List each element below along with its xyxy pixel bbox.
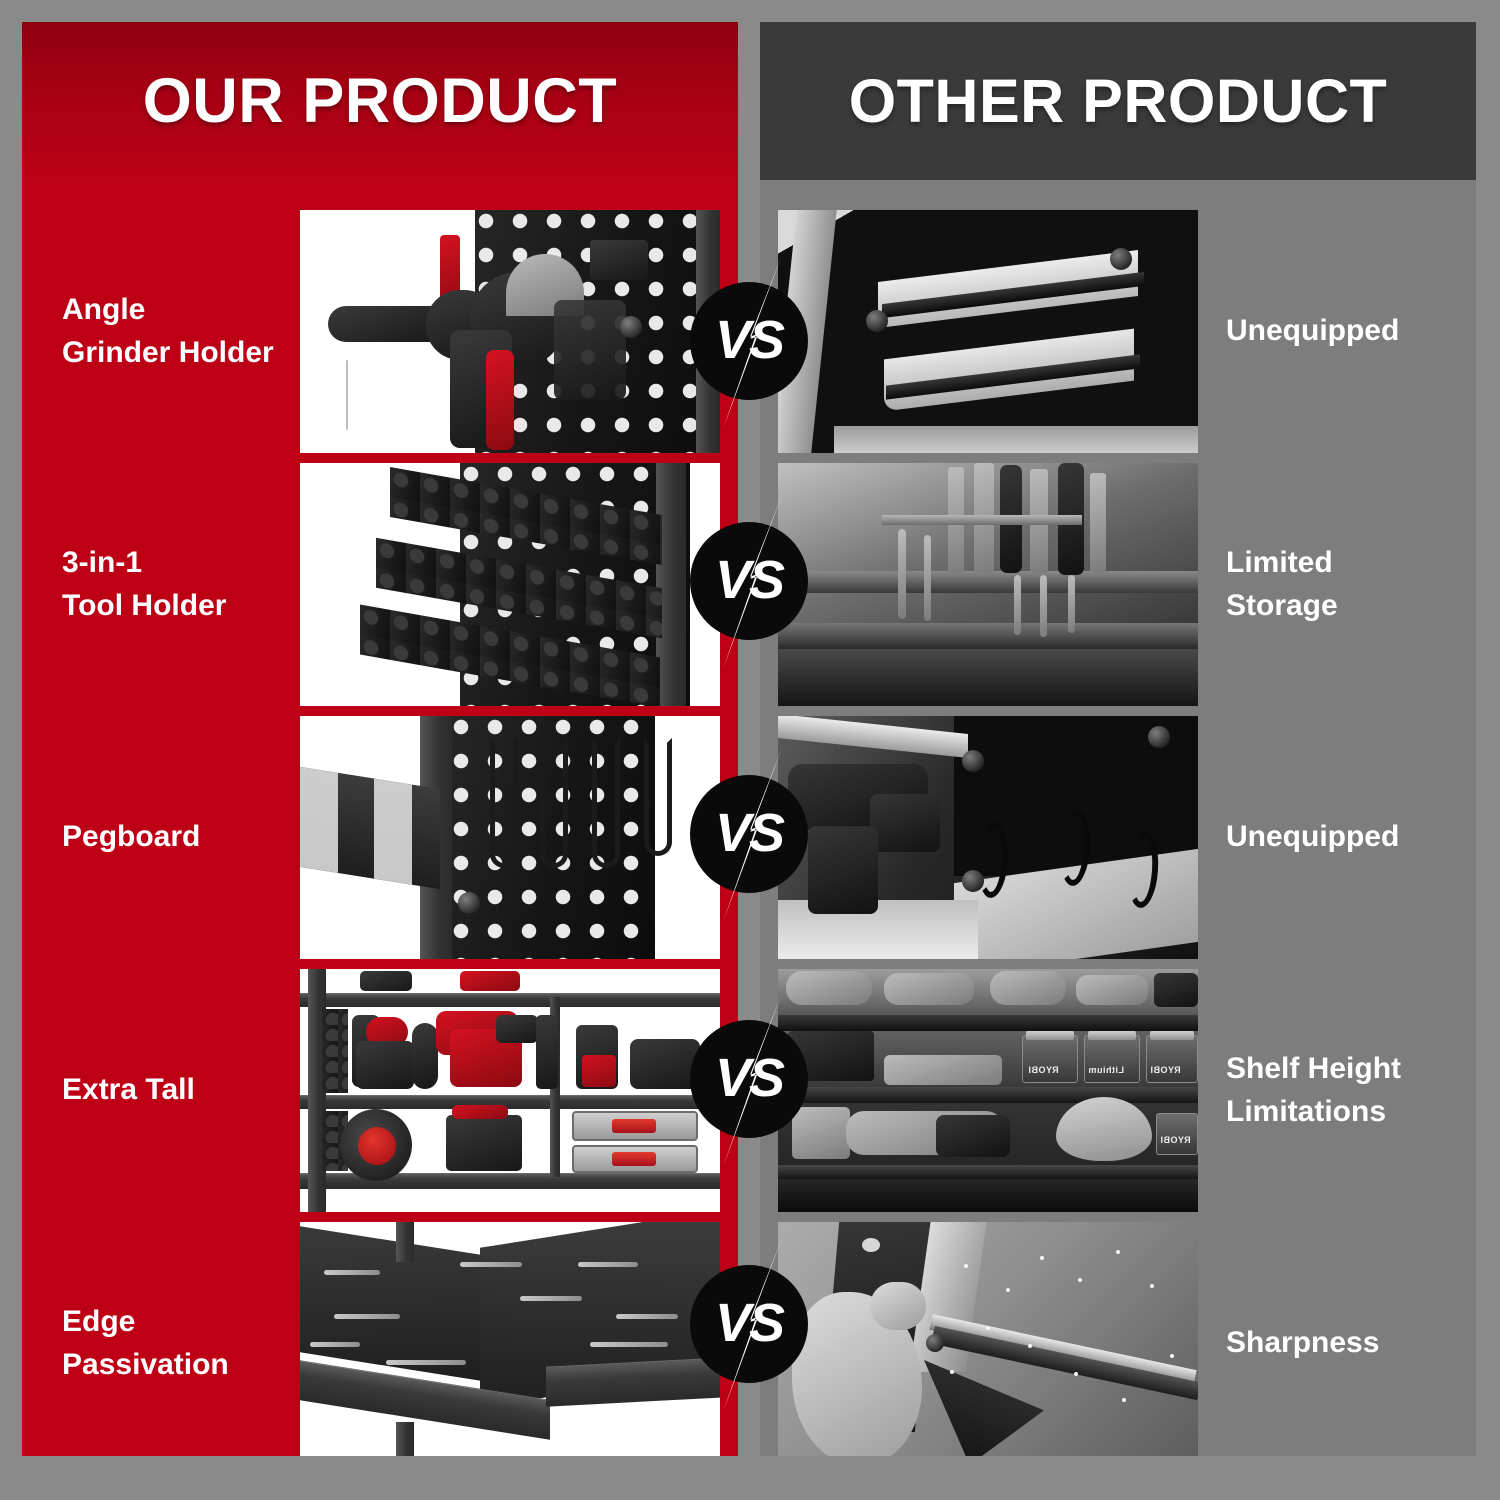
row-unequipped-2: Unequipped	[760, 716, 1476, 959]
vs-badge-row-1[interactable]: VS	[690, 282, 808, 400]
comparison-infographic: OUR PRODUCT Angle Grinder Holder	[0, 0, 1500, 1500]
row-pegboard: Pegboard	[22, 716, 738, 959]
label-angle-grinder-holder: Angle Grinder Holder	[22, 289, 300, 374]
label-extra-tall: Extra Tall	[22, 1069, 300, 1112]
image-unequipped-2	[778, 716, 1198, 959]
battery-label-2: Lithium	[1088, 1065, 1124, 1075]
other-product-panel: OTHER PRODUCT Unequipped	[760, 22, 1476, 1456]
vs-badge-row-5[interactable]: VS	[690, 1265, 808, 1383]
vs-label-2: VS	[690, 522, 808, 640]
row-extra-tall: Extra Tall	[22, 969, 738, 1212]
image-angle-grinder-holder	[300, 210, 720, 453]
label-edge-passivation: Edge Passivation	[22, 1301, 300, 1386]
other-product-title: OTHER PRODUCT	[849, 71, 1388, 132]
our-product-panel: OUR PRODUCT Angle Grinder Holder	[22, 22, 738, 1456]
row-unequipped-1: Unequipped	[760, 210, 1476, 453]
image-limited-storage	[778, 463, 1198, 706]
image-extra-tall	[300, 969, 720, 1212]
vs-label-4: VS	[690, 1020, 808, 1138]
other-product-rows: Unequipped Limited Stor	[760, 200, 1476, 1456]
row-angle-grinder-holder: Angle Grinder Holder	[22, 210, 738, 453]
vs-label-3: VS	[690, 775, 808, 893]
vs-label-1: VS	[690, 282, 808, 400]
label-tool-holder: 3-in-1 Tool Holder	[22, 542, 300, 627]
our-product-header: OUR PRODUCT	[22, 22, 738, 180]
other-product-header: OTHER PRODUCT	[760, 22, 1476, 180]
battery-label-4: RYOBI	[1160, 1135, 1191, 1145]
image-pegboard	[300, 716, 720, 959]
label-unequipped-1: Unequipped	[1198, 310, 1476, 353]
row-shelf-height-limitations: Shelf Height Limitations RYOBI	[760, 969, 1476, 1212]
row-tool-holder: 3-in-1 Tool Holder	[22, 463, 738, 706]
label-unequipped-2: Unequipped	[1198, 816, 1476, 859]
our-product-rows: Angle Grinder Holder	[22, 200, 738, 1456]
label-pegboard: Pegboard	[22, 816, 300, 859]
vs-label-5: VS	[690, 1265, 808, 1383]
battery-label-1: RYOBI	[1028, 1065, 1059, 1075]
image-tool-holder	[300, 463, 720, 706]
row-edge-passivation: Edge Passivation	[22, 1222, 738, 1456]
label-sharpness: Sharpness	[1198, 1322, 1476, 1365]
row-sharpness: Sharpness	[760, 1222, 1476, 1456]
our-product-title: OUR PRODUCT	[143, 70, 618, 133]
label-limited-storage: Limited Storage	[1198, 542, 1476, 627]
image-unequipped-1	[778, 210, 1198, 453]
image-sharpness	[778, 1222, 1198, 1456]
image-edge-passivation	[300, 1222, 720, 1456]
vs-badge-row-2[interactable]: VS	[690, 522, 808, 640]
row-limited-storage: Limited Storage	[760, 463, 1476, 706]
vs-badge-row-4[interactable]: VS	[690, 1020, 808, 1138]
image-shelf-height-limitations: RYOBI Lithium RYOBI RYOBI	[778, 969, 1198, 1212]
battery-label-3: RYOBI	[1150, 1065, 1181, 1075]
vs-badge-row-3[interactable]: VS	[690, 775, 808, 893]
label-shelf-height-limitations: Shelf Height Limitations	[1198, 1048, 1476, 1133]
